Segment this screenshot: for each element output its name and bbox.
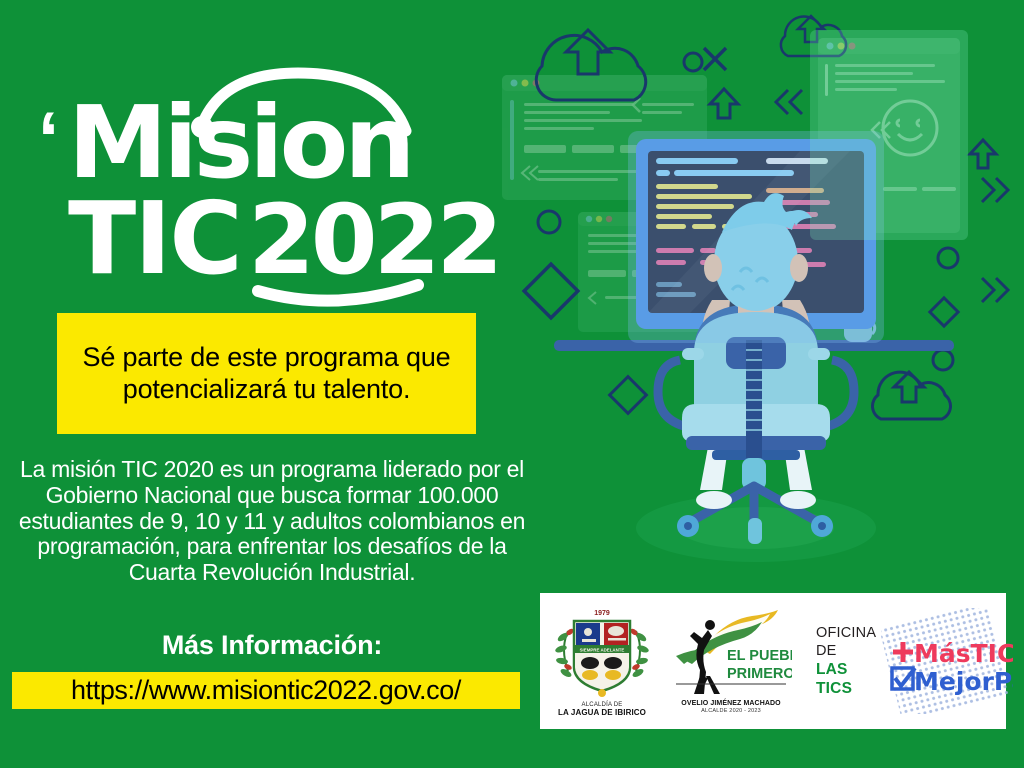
mastic-word1: MásTIC: [914, 639, 1013, 668]
more-info-label: Más Información:: [8, 630, 536, 661]
mision-tic-logo: ‘ Mision TIC 2022 ›: [30, 55, 520, 305]
crest-year: 1979: [594, 610, 610, 617]
alcaldia-crest-logo: 1979: [550, 605, 654, 717]
pueblo-flag-icon: EL PUEBLO PRIMERO: [670, 608, 792, 700]
oficina-line1: OFICINA DE: [816, 624, 875, 660]
body-paragraph: La misión TIC 2020 es un programa lidera…: [8, 457, 536, 586]
crest-caption-line2: LA JAGUA DE IBIRICO: [558, 708, 646, 717]
illustration-programmer: [500, 0, 1024, 600]
footer-logo-bar: 1979: [540, 593, 1006, 729]
url-band[interactable]: https://www.misiontic2022.gov.co/: [12, 672, 520, 709]
crest-icon: 1979: [550, 605, 654, 701]
crest-motto: SIEMPRE ADELANTE: [580, 648, 625, 653]
logo-year: 2022: [248, 184, 499, 296]
pueblo-caption-line2: ALCALDE 2020 - 2023: [701, 708, 761, 714]
glass-overlay-right: [810, 30, 968, 240]
pueblo-primero-logo: EL PUEBLO PRIMERO OVELIO JIMÉNEZ MACHADO…: [670, 608, 792, 714]
pueblo-line1: EL PUEBLO: [727, 648, 792, 664]
program-url[interactable]: https://www.misiontic2022.gov.co/: [71, 677, 461, 704]
headline-text: Sé parte de este programa que potenciali…: [65, 342, 468, 404]
logo-quote-open: ‘: [38, 97, 59, 182]
poster-root: ‘ Mision TIC 2022 › Sé parte de este pro…: [0, 0, 1024, 768]
pueblo-line2: PRIMERO: [727, 666, 792, 682]
mastic-word2: MejorPaís: [914, 667, 1013, 696]
headline-banner: Sé parte de este programa que potenciali…: [57, 313, 476, 434]
logo-quote-close: ›: [468, 179, 493, 264]
oficina-line2: LAS TICS: [816, 660, 875, 699]
mastic-mejorpais-logo: MásTIC MejorPaís: [881, 608, 1013, 714]
oficina-tics-logo: OFICINA DE LAS TICS: [816, 624, 875, 699]
logo-line2: TIC: [68, 180, 241, 297]
pueblo-caption-line1: OVELIO JIMÉNEZ MACHADO: [681, 700, 780, 707]
